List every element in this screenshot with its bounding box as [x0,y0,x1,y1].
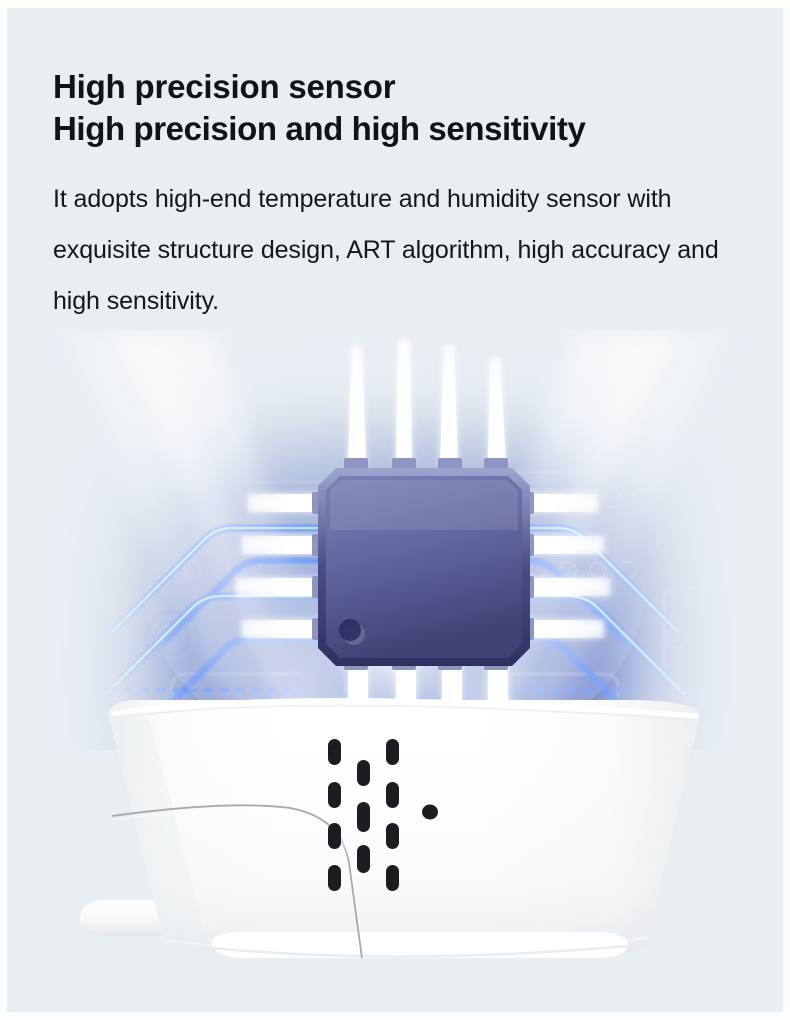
circuit-glow-scene [0,330,790,750]
top-edge-strip [0,0,790,8]
chip-pins-left [236,492,326,640]
chip-pins-top [344,340,508,472]
right-edge-strip [783,8,790,1020]
product-feature-page: High precision sensor High precision and… [0,0,790,1020]
bottom-edge-strip [0,1012,790,1020]
headline-line-1: High precision sensor [53,66,753,108]
chip-pins-right [520,492,610,640]
vent-dot [422,805,438,820]
left-edge-strip [0,8,7,1020]
sensor-chip [0,330,790,750]
headline-line-2: High precision and high sensitivity [53,108,753,150]
copy-block: High precision sensor High precision and… [53,66,753,327]
body-paragraph: It adopts high-end temperature and humid… [53,174,733,327]
device-vent-holes [0,690,790,980]
